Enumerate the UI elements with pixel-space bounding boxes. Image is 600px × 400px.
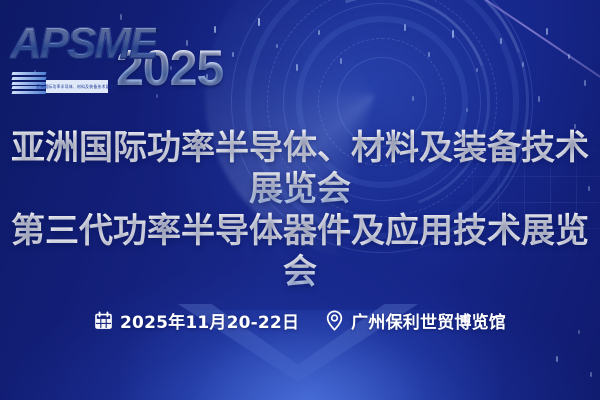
event-date-text: 2025年11月20-22日 (120, 308, 299, 333)
location-pin-icon (325, 310, 344, 331)
event-date: 2025年11月20-22日 (94, 308, 299, 333)
title-line-2: 第三代功率半导体器件及应用技术展览会 (0, 211, 600, 294)
event-meta: 2025年11月20-22日 广州保利世贸博览馆 (0, 308, 600, 333)
logo-bars-icon (12, 72, 46, 94)
logo-wordmark: APSME (10, 22, 156, 66)
event-banner: APSME 亚洲国际功率半导体、材料及装备技术展览会 2025 亚洲国际功率半导… (0, 0, 600, 400)
logo-subtitle-text: 亚洲国际功率半导体、材料及装备技术展览会 (36, 84, 118, 90)
title-line-1: 亚洲国际功率半导体、材料及装备技术展览会 (0, 128, 600, 211)
brand-logo: APSME 亚洲国际功率半导体、材料及装备技术展览会 2025 (10, 22, 223, 94)
apsme-logo-icon: APSME 亚洲国际功率半导体、材料及装备技术展览会 (10, 22, 110, 94)
event-venue: 广州保利世贸博览馆 (325, 308, 506, 333)
calendar-icon (94, 311, 113, 330)
event-titles: 亚洲国际功率半导体、材料及装备技术展览会 第三代功率半导体器件及应用技术展览会 (0, 128, 600, 294)
logo-subtitle-plate: 亚洲国际功率半导体、材料及装备技术展览会 (46, 80, 108, 93)
event-venue-text: 广州保利世贸博览馆 (351, 308, 506, 333)
light-streak (406, 0, 600, 98)
